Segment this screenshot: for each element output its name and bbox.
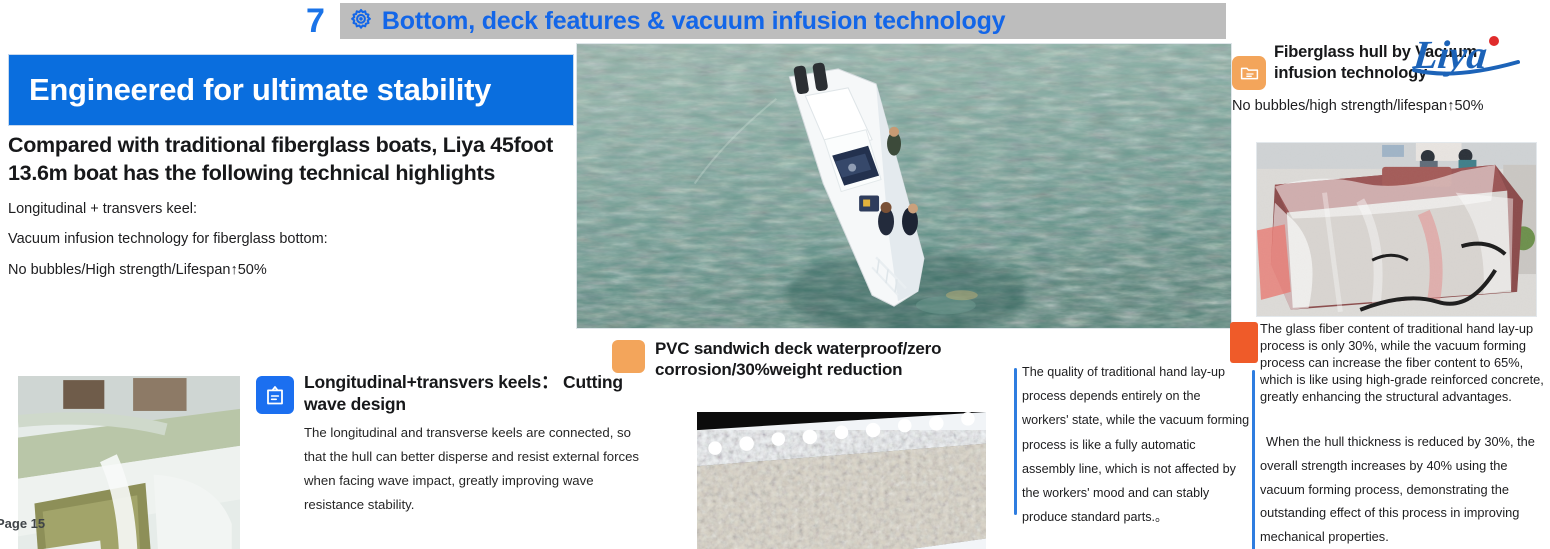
keels-text-block: Longitudinal+transvers keels： Cutting wa… xyxy=(256,372,656,517)
intro-block: Compared with traditional fiberglass boa… xyxy=(8,132,574,279)
vacuum-infusion-photo xyxy=(1256,142,1537,317)
quality-paragraph: The quality of traditional hand lay-up p… xyxy=(1022,360,1250,529)
keels-title-row: Longitudinal+transvers keels： Cutting wa… xyxy=(256,372,656,416)
pvc-title: PVC sandwich deck waterproof/zero corros… xyxy=(655,338,1012,381)
pvc-photo-gallery xyxy=(697,412,986,540)
fiberglass-title-row: Fiberglass hull by Vacuum infusion techn… xyxy=(1232,40,1544,90)
page-number: Page 15 xyxy=(0,516,45,531)
intro-line: Longitudinal + transvers keel: xyxy=(8,201,574,218)
hull-strength-paragraph: When the hull thickness is reduced by 30… xyxy=(1260,430,1550,549)
fiber-content-paragraph: The glass fiber content of traditional h… xyxy=(1260,320,1546,405)
slide-root: 7 Bottom, deck features & vacuum infusio… xyxy=(0,0,1550,549)
stability-banner: Engineered for ultimate stability xyxy=(8,54,574,126)
intro-bullet-list: Longitudinal + transvers keel: Vacuum in… xyxy=(8,201,574,279)
folder-icon xyxy=(1232,56,1266,90)
gear-icon xyxy=(348,8,374,34)
section-number: 7 xyxy=(306,4,340,38)
intro-line: No bubbles/High strength/Lifespan↑50% xyxy=(8,262,574,279)
fiberglass-subtitle: No bubbles/high strength/lifespan↑50% xyxy=(1232,98,1544,115)
keels-body-text: The longitudinal and transverse keels ar… xyxy=(256,421,656,517)
header-band: Bottom, deck features & vacuum infusion … xyxy=(340,3,1226,39)
intro-heading: Compared with traditional fiberglass boa… xyxy=(8,132,574,187)
fiberglass-hull-block: Fiberglass hull by Vacuum infusion techn… xyxy=(1232,40,1544,115)
keel-photo xyxy=(132,376,240,503)
stability-banner-label: Engineered for ultimate stability xyxy=(9,72,491,108)
quality-paragraph-block: The quality of traditional hand lay-up p… xyxy=(1008,360,1250,529)
keel-photo-gallery xyxy=(18,376,240,503)
header-title: Bottom, deck features & vacuum infusion … xyxy=(382,7,1005,36)
accent-bar xyxy=(1252,370,1255,549)
accent-bar xyxy=(1014,368,1017,515)
clipboard-icon xyxy=(256,376,294,414)
orange-square-icon xyxy=(612,340,645,373)
fiberglass-title: Fiberglass hull by Vacuum infusion techn… xyxy=(1274,40,1544,85)
slide-header: 7 Bottom, deck features & vacuum infusio… xyxy=(306,0,1226,42)
pvc-title-row: PVC sandwich deck waterproof/zero corros… xyxy=(612,338,1012,381)
keels-title: Longitudinal+transvers keels： Cutting wa… xyxy=(304,372,656,416)
orange-marker-icon xyxy=(1230,322,1258,363)
intro-line: Vacuum infusion technology for fiberglas… xyxy=(8,231,574,248)
boat-aerial-photo xyxy=(576,43,1232,329)
pvc-core-cross-section-photo xyxy=(858,412,986,540)
pvc-deck-block: PVC sandwich deck waterproof/zero corros… xyxy=(612,338,1012,381)
